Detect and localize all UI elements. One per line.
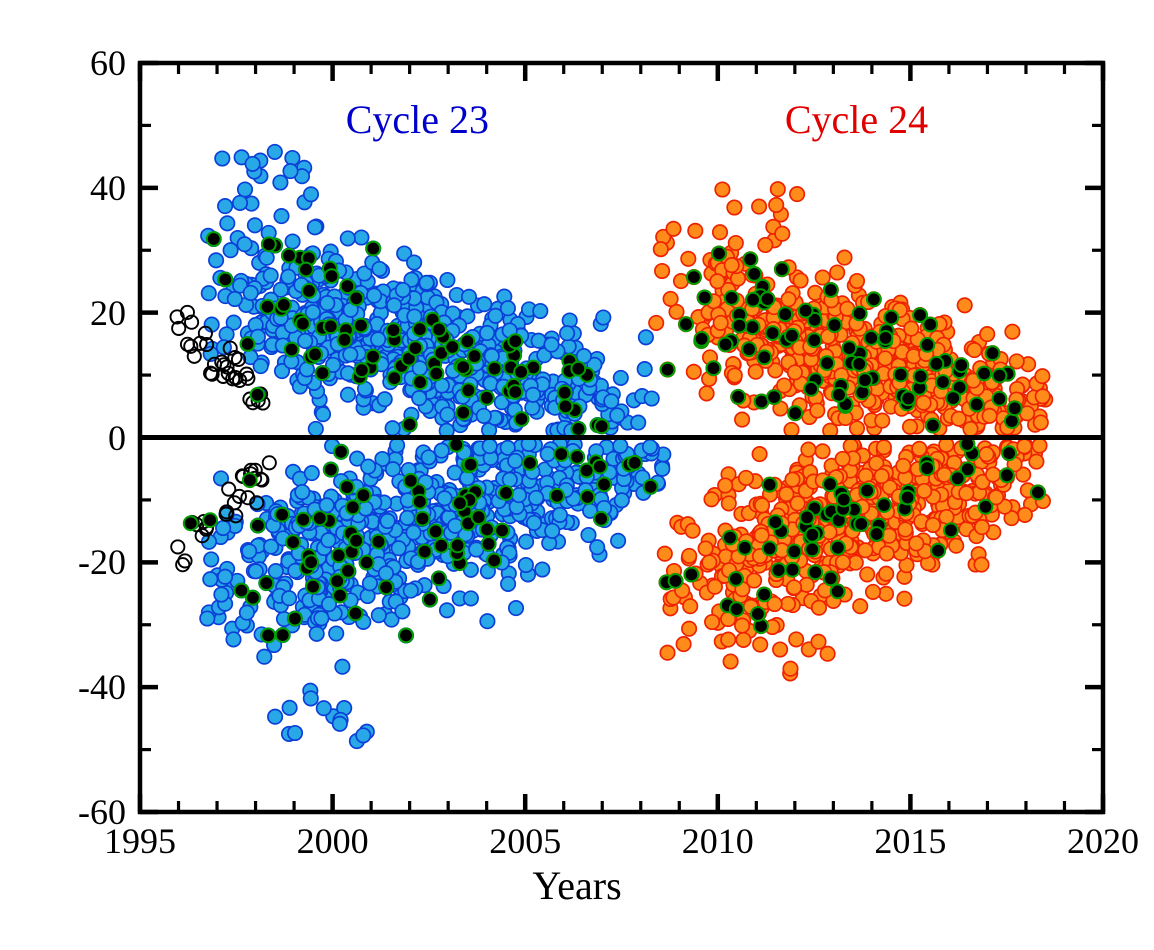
scatter-plot-canvas bbox=[0, 0, 1154, 950]
butterfly-diagram-figure: Sunspot Heliographic Latitude Years -60-… bbox=[0, 0, 1154, 950]
series-cycle-23-points bbox=[200, 145, 670, 749]
series-cycle-24-points bbox=[649, 182, 1052, 681]
